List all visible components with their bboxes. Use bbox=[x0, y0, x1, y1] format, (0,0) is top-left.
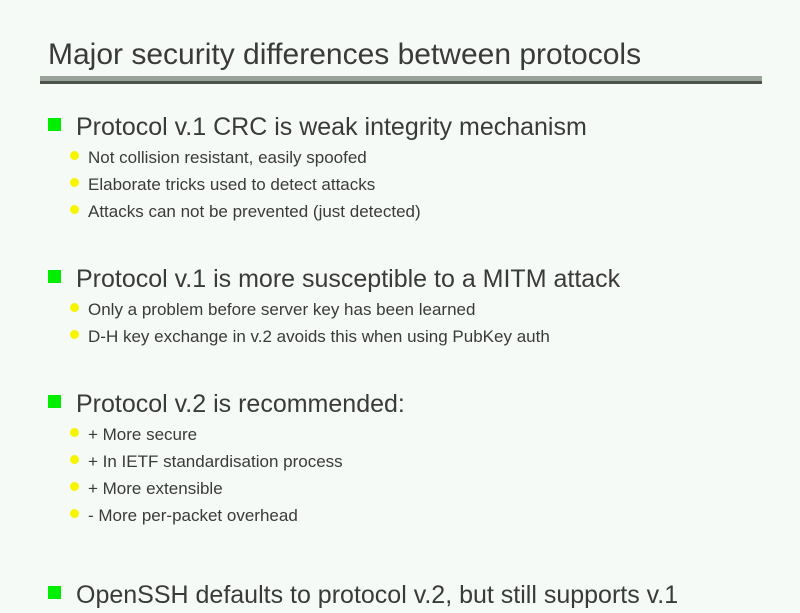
level2-bullet-label: D-H key exchange in v.2 avoids this when… bbox=[88, 324, 550, 349]
level2-bullet-item: + More secure bbox=[70, 422, 778, 447]
level1-bullet-label: Protocol v.1 is more susceptible to a MI… bbox=[76, 264, 620, 295]
level2-bullet-label: + In IETF standardisation process bbox=[88, 449, 343, 474]
level1-bullet-item: Protocol v.1 is more susceptible to a MI… bbox=[48, 264, 778, 295]
level2-bullet-item: + In IETF standardisation process bbox=[70, 449, 778, 474]
presentation-slide: Major security differences between proto… bbox=[0, 0, 800, 600]
dot-bullet-icon bbox=[70, 482, 79, 491]
square-bullet-icon bbox=[48, 270, 61, 283]
dot-bullet-icon bbox=[70, 330, 79, 339]
level1-bullet-label: Protocol v.2 is recommended: bbox=[76, 389, 405, 420]
level2-bullet-item: + More extensible bbox=[70, 476, 778, 501]
bullet-group: Protocol v.1 is more susceptible to a MI… bbox=[48, 264, 778, 349]
bullet-group: Protocol v.1 CRC is weak integrity mecha… bbox=[48, 112, 778, 224]
group-spacer bbox=[48, 550, 778, 580]
slide-title-block: Major security differences between proto… bbox=[40, 38, 762, 84]
level2-bullet-label: + More extensible bbox=[88, 476, 223, 501]
level1-bullet-item: Protocol v.1 CRC is weak integrity mecha… bbox=[48, 112, 778, 143]
slide-body: Protocol v.1 CRC is weak integrity mecha… bbox=[48, 112, 778, 613]
level2-bullet-item: Only a problem before server key has bee… bbox=[70, 297, 778, 322]
dot-bullet-icon bbox=[70, 205, 79, 214]
square-bullet-icon bbox=[48, 118, 61, 131]
dot-bullet-icon bbox=[70, 303, 79, 312]
group-spacer bbox=[48, 246, 778, 264]
level1-bullet-label: OpenSSH defaults to protocol v.2, but st… bbox=[76, 580, 678, 611]
dot-bullet-icon bbox=[70, 178, 79, 187]
level2-bullet-label: Only a problem before server key has bee… bbox=[88, 297, 475, 322]
square-bullet-icon bbox=[48, 395, 61, 408]
level2-bullet-label: Not collision resistant, easily spoofed bbox=[88, 145, 367, 170]
bullet-group: OpenSSH defaults to protocol v.2, but st… bbox=[48, 580, 778, 611]
level2-bullet-label: - More per-packet overhead bbox=[88, 503, 298, 528]
level2-bullet-label: Attacks can not be prevented (just detec… bbox=[88, 199, 421, 224]
level2-bullet-item: Attacks can not be prevented (just detec… bbox=[70, 199, 778, 224]
dot-bullet-icon bbox=[70, 455, 79, 464]
level1-bullet-item: Protocol v.2 is recommended: bbox=[48, 389, 778, 420]
page-title: Major security differences between proto… bbox=[40, 38, 762, 72]
level2-bullet-item: D-H key exchange in v.2 avoids this when… bbox=[70, 324, 778, 349]
level2-bullet-item: - More per-packet overhead bbox=[70, 503, 778, 528]
bullet-group: Protocol v.2 is recommended: + More secu… bbox=[48, 389, 778, 528]
level2-bullet-label: Elaborate tricks used to detect attacks bbox=[88, 172, 375, 197]
dot-bullet-icon bbox=[70, 151, 79, 160]
level2-bullet-label: + More secure bbox=[88, 422, 197, 447]
level2-bullet-item: Elaborate tricks used to detect attacks bbox=[70, 172, 778, 197]
level2-bullet-item: Not collision resistant, easily spoofed bbox=[70, 145, 778, 170]
square-bullet-icon bbox=[48, 586, 61, 599]
group-spacer bbox=[48, 371, 778, 389]
title-divider bbox=[40, 76, 762, 84]
dot-bullet-icon bbox=[70, 509, 79, 518]
level1-bullet-item: OpenSSH defaults to protocol v.2, but st… bbox=[48, 580, 778, 611]
dot-bullet-icon bbox=[70, 428, 79, 437]
level1-bullet-label: Protocol v.1 CRC is weak integrity mecha… bbox=[76, 112, 587, 143]
